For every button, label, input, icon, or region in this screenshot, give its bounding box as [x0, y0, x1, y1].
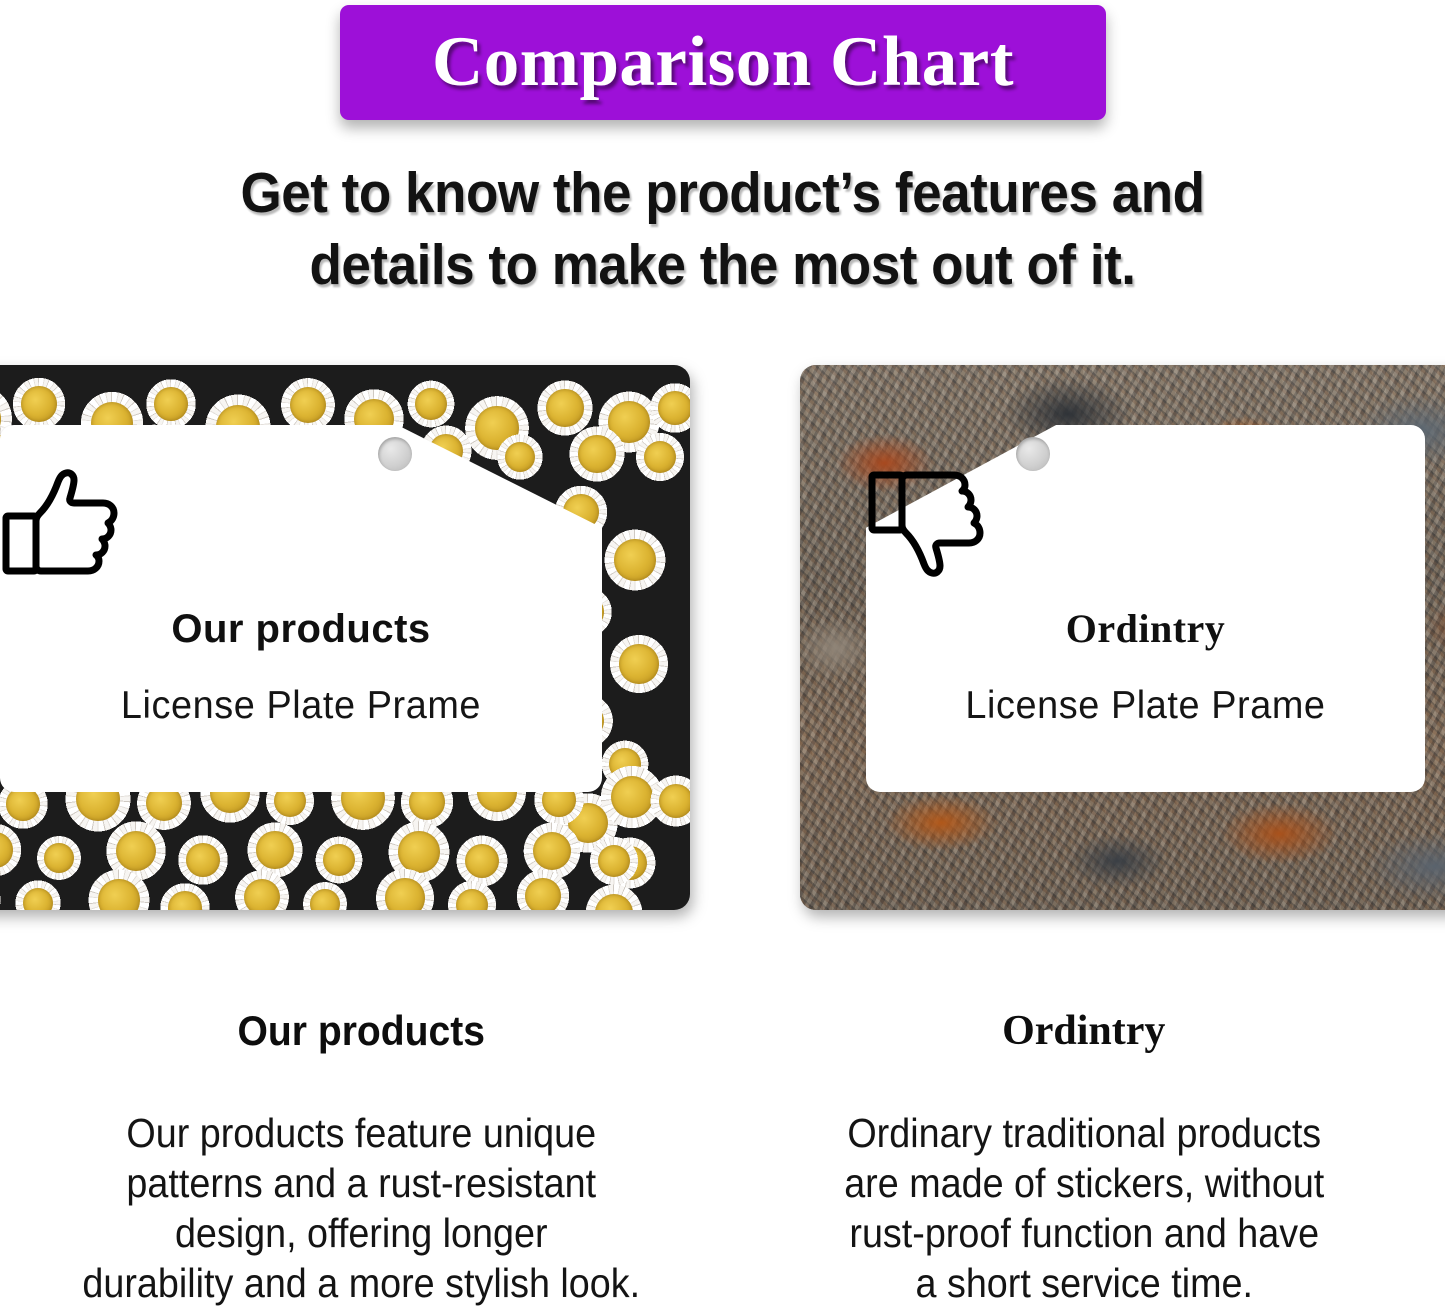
daisy-center: [385, 878, 424, 910]
our-product-window-content: Our products License Plate Prame: [0, 469, 602, 728]
our-product-in-frame-subtitle: License Plate Prame: [9, 685, 593, 728]
daisy-center: [98, 879, 139, 910]
page-subheading: Get to know the product’s features and d…: [51, 158, 1395, 302]
daisy-center: [186, 843, 220, 877]
screw-hole: [1016, 437, 1050, 471]
comparison-captions: Our products Our products feature unique…: [0, 990, 1445, 1314]
daisy-center: [244, 879, 280, 910]
subheading-line-1: Get to know the product’s features and: [51, 158, 1395, 230]
screw-hole: [378, 437, 412, 471]
our-product-in-frame-title: Our products: [0, 607, 602, 651]
caption-line: Ordinary traditional products: [786, 1108, 1381, 1158]
daisy-center: [619, 644, 658, 683]
daisy-center: [659, 784, 690, 819]
ordinary-product-frame: Ordintry License Plate Prame: [800, 365, 1445, 910]
daisy-center: [614, 539, 655, 580]
daisy-center: [578, 435, 615, 472]
daisy-center: [21, 386, 57, 422]
product-frames-row: Our products License Plate Prame Ordintr…: [0, 340, 1445, 930]
our-product-caption-body: Our products feature unique patterns and…: [64, 1108, 659, 1308]
ordinary-product-caption-title: Ordintry: [761, 1008, 1408, 1054]
daisy-center: [323, 844, 355, 876]
comparison-chart-banner: Comparison Chart: [340, 5, 1106, 120]
caption-line: a short service time.: [786, 1258, 1381, 1308]
our-product-frame: Our products License Plate Prame: [0, 365, 690, 910]
ordinary-product-in-frame-title: Ordintry: [866, 607, 1425, 651]
caption-line: rust-proof function and have: [786, 1208, 1381, 1258]
thumbs-down-icon: [866, 469, 1425, 577]
page-title: Comparison Chart: [432, 27, 1014, 98]
caption-line: design, offering longer: [64, 1208, 659, 1258]
daisy-center: [44, 843, 74, 873]
ordinary-product-in-frame-subtitle: License Plate Prame: [874, 685, 1416, 728]
daisy-center: [525, 878, 561, 910]
caption-line: patterns and a rust-resistant: [64, 1158, 659, 1208]
ordinary-product-caption-column: Ordintry Ordinary traditional products a…: [723, 990, 1445, 1314]
daisy-center: [6, 787, 40, 821]
daisy-center: [658, 391, 690, 425]
ordinary-product-window-content: Ordintry License Plate Prame: [866, 469, 1425, 728]
our-product-caption-column: Our products Our products feature unique…: [0, 990, 723, 1314]
daisy-center: [310, 889, 340, 910]
thumbs-up-icon: [0, 469, 602, 577]
caption-line: Our products feature unique: [64, 1108, 659, 1158]
caption-line: are made of stickers, without: [786, 1158, 1381, 1208]
our-product-caption-title: Our products: [61, 1008, 662, 1054]
caption-line: durability and a more stylish look.: [64, 1258, 659, 1308]
daisy-flower-icon: [626, 423, 690, 491]
ordinary-product-caption-body: Ordinary traditional products are made o…: [786, 1108, 1381, 1308]
subheading-line-2: details to make the most out of it.: [51, 230, 1395, 302]
